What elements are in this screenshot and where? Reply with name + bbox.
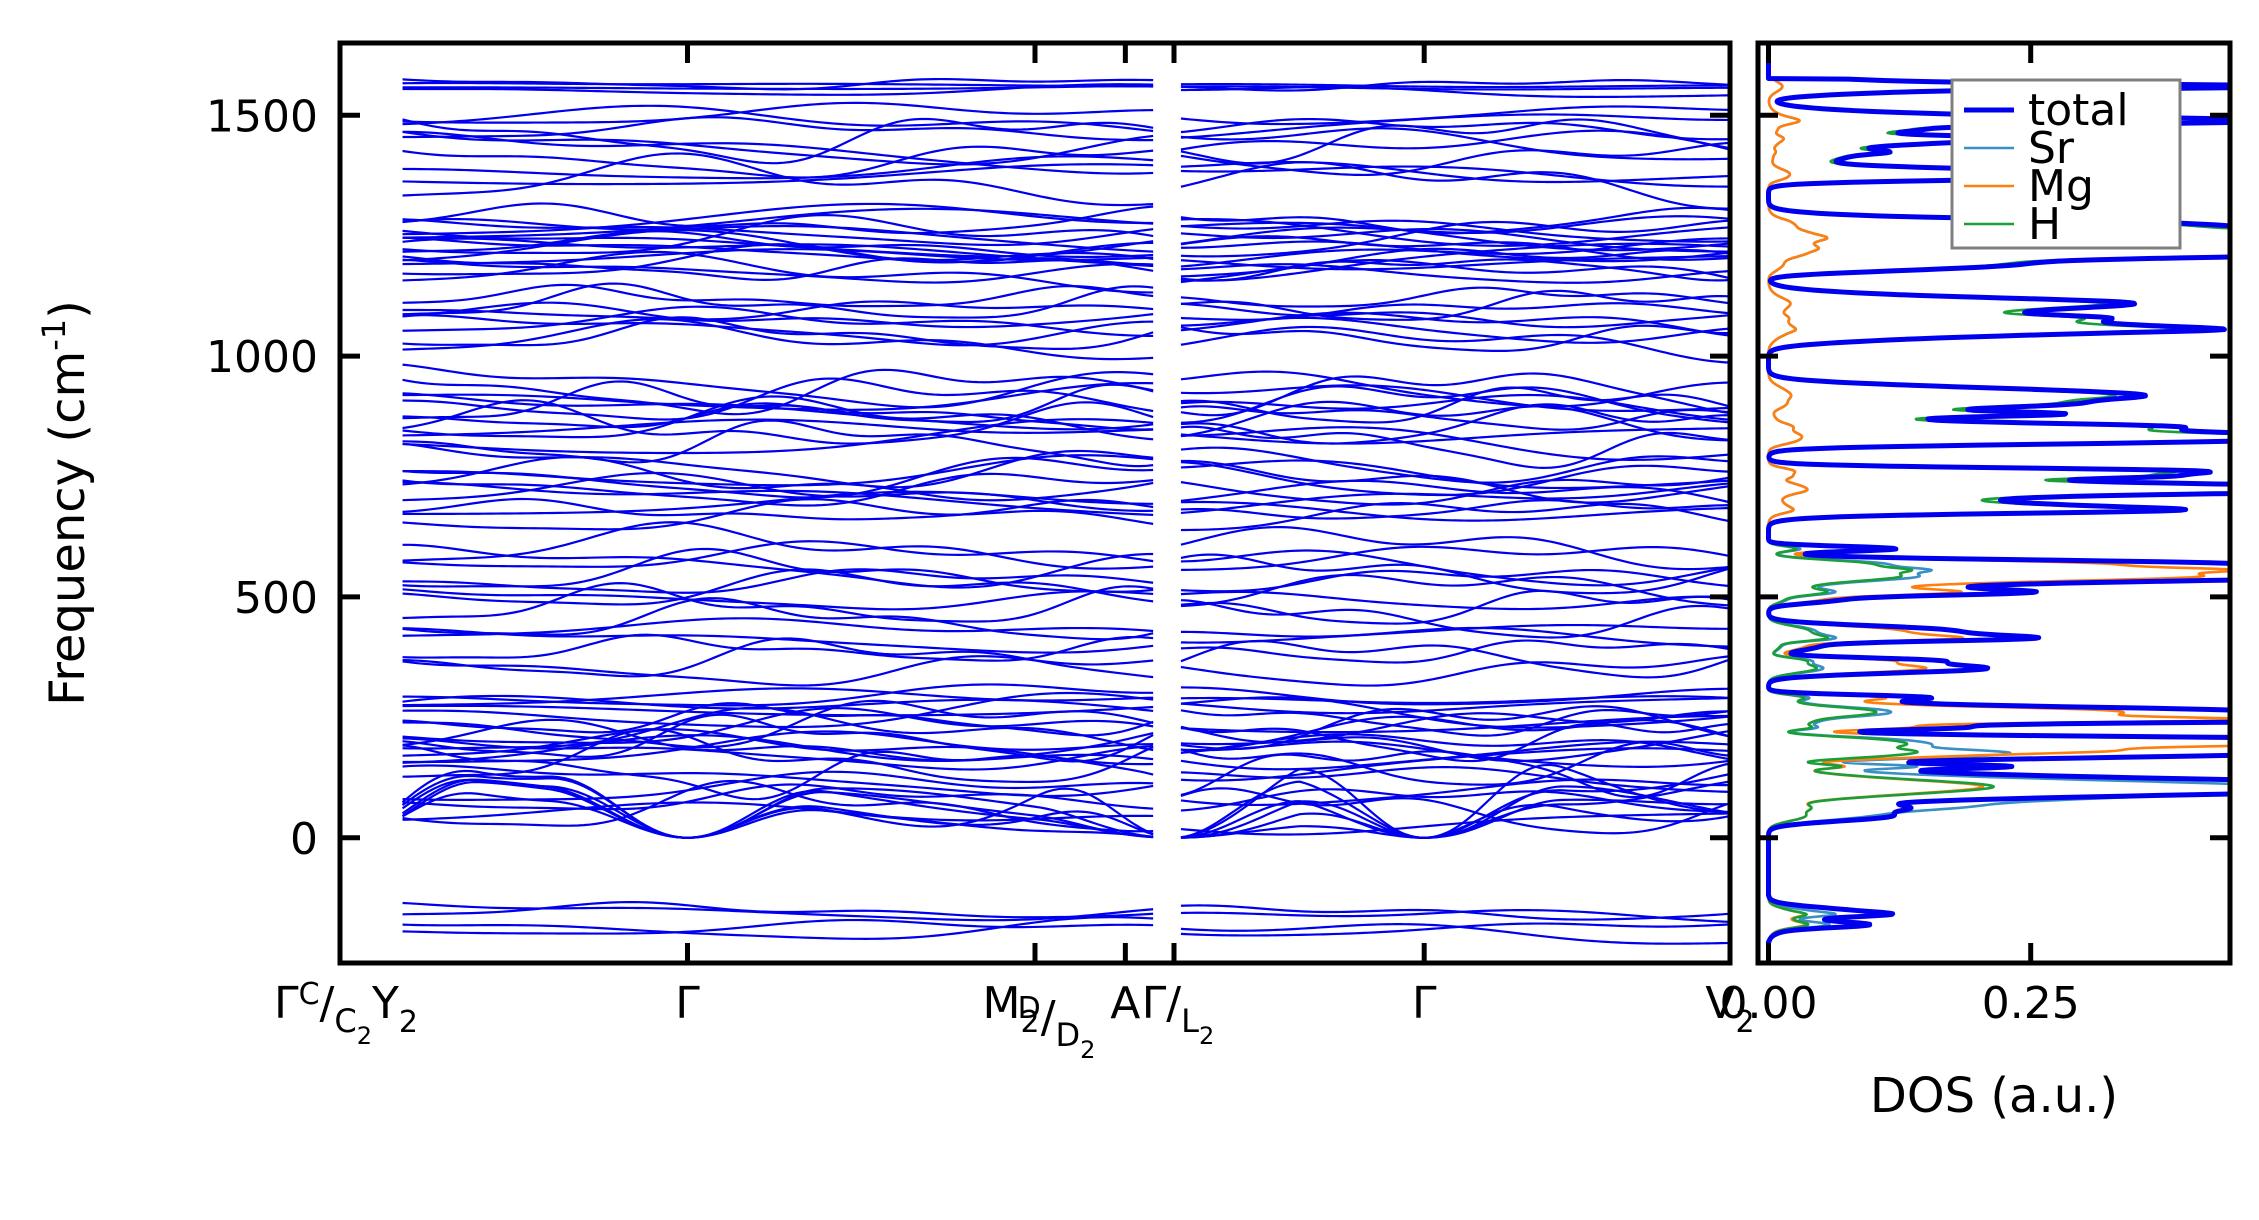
dos-x-tick-label: 0.00 — [1720, 978, 1818, 1029]
y-axis-title-text: Frequency (cm-1) — [35, 300, 96, 706]
y-axis-title: Frequency (cm-1) — [35, 300, 96, 706]
x-tick-label-3: A — [1110, 978, 1140, 1029]
x-tick-label-5: Γ — [1412, 978, 1437, 1029]
legend: totalSrMgH — [1952, 80, 2180, 250]
legend-label-h: H — [2028, 199, 2061, 250]
dos-x-tick-label: 0.25 — [1982, 978, 2080, 1029]
figure-canvas: 150010005000Frequency (cm-1)ΓC/C2Y2ΓM2D/… — [0, 0, 2259, 1220]
dos-panel: 0.000.25DOS (a.u.)totalSrMgH — [1720, 43, 2259, 1124]
y-tick-label: 1500 — [206, 91, 318, 142]
x-tick-label-1: Γ — [675, 978, 700, 1029]
band-panel: 150010005000Frequency (cm-1)ΓC/C2Y2ΓM2D/… — [35, 43, 2259, 1124]
dos-axis-title: DOS (a.u.) — [1870, 1068, 2118, 1124]
y-tick-label: 500 — [234, 573, 318, 624]
y-tick-label: 1000 — [206, 332, 318, 383]
y-tick-label: 0 — [290, 814, 318, 865]
phonon-figure: 150010005000Frequency (cm-1)ΓC/C2Y2ΓM2D/… — [0, 0, 2259, 1220]
